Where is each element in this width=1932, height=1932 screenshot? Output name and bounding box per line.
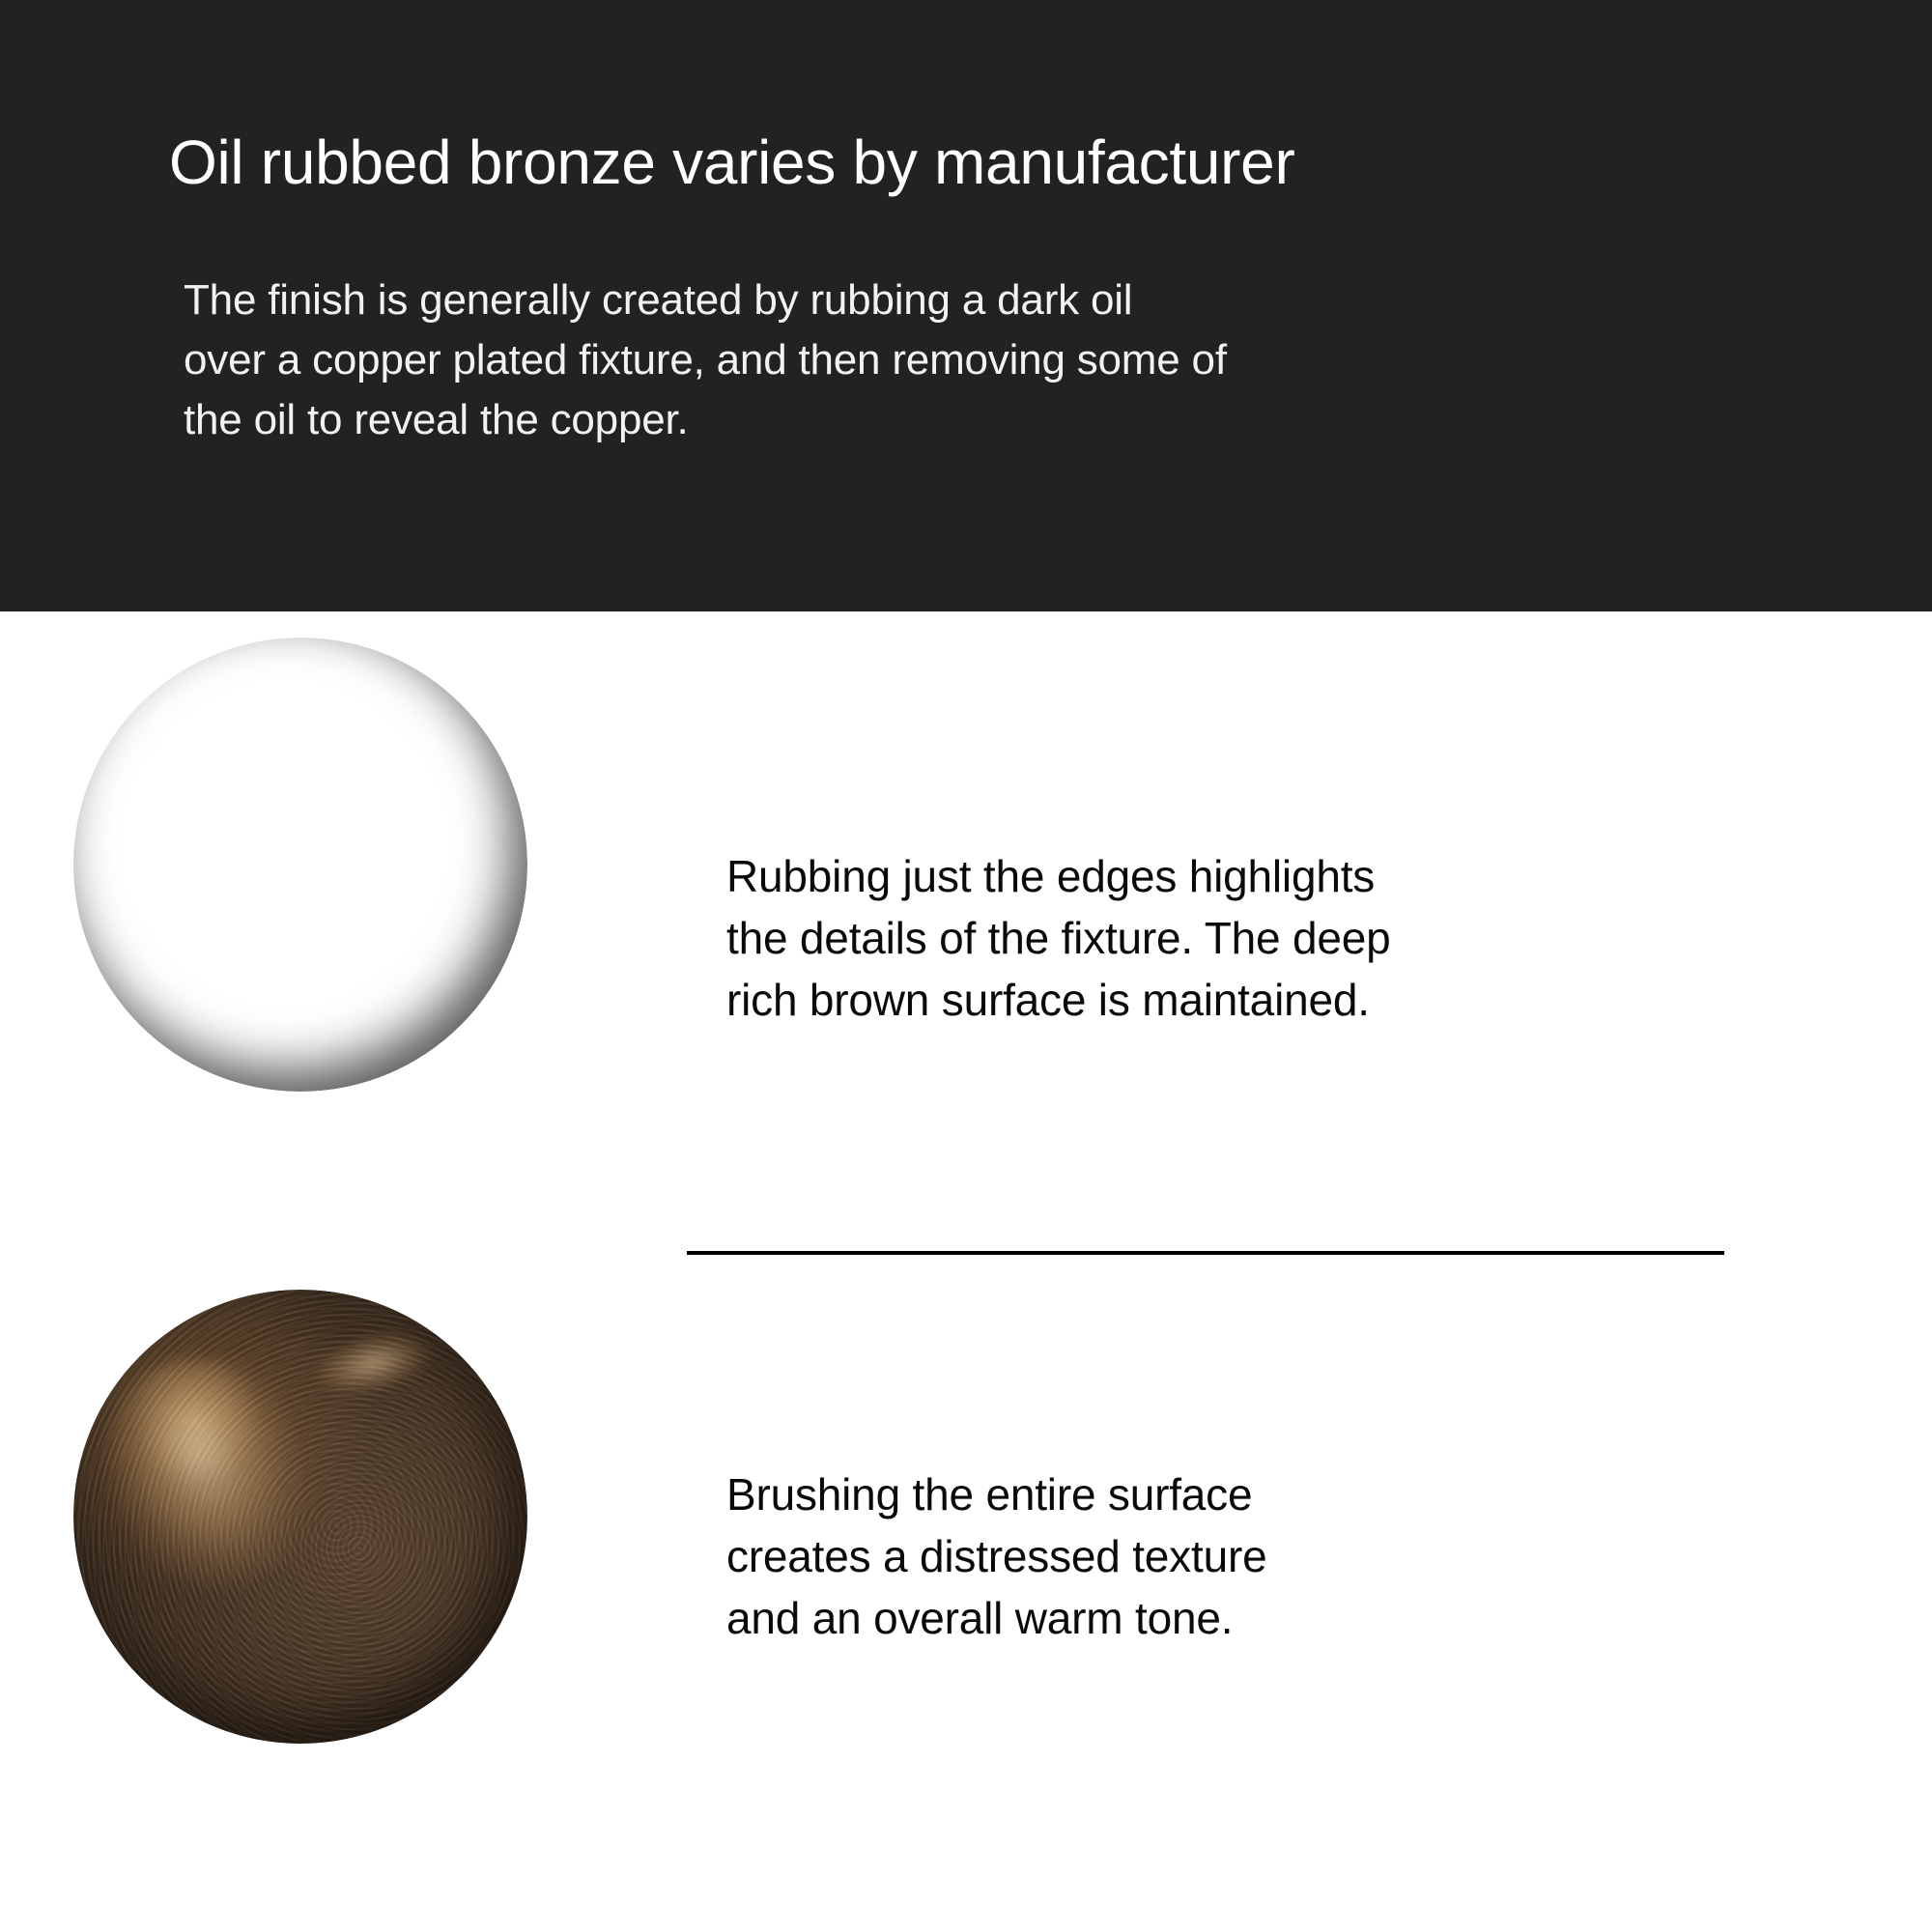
caption-line-3: rich brown surface is maintained.: [726, 969, 1391, 1031]
header-band: Oil rubbed bronze varies by manufacturer…: [0, 0, 1932, 611]
caption-line-2: creates a distressed texture: [726, 1525, 1266, 1587]
swatch-caption-rubbed-edges: Rubbing just the edges highlights the de…: [726, 845, 1391, 1031]
swatch-surface-polished: [73, 638, 527, 1092]
caption-line-2: the details of the fixture. The deep: [726, 907, 1391, 969]
brushed-warm-bronze-swatch: [73, 1290, 527, 1744]
swatch-caption-brushed-surface: Brushing the entire surface creates a di…: [726, 1463, 1266, 1649]
caption-line-1: Brushing the entire surface: [726, 1463, 1266, 1525]
header-description-line-1: The finish is generally created by rubbi…: [184, 270, 1227, 330]
content-area: Rubbing just the edges highlights the de…: [0, 611, 1932, 1932]
header-description-line-2: over a copper plated fixture, and then r…: [184, 330, 1227, 390]
sphere-shading-rim: [73, 638, 527, 1092]
swatch-surface-brushed: [73, 1290, 527, 1744]
page-title: Oil rubbed bronze varies by manufacturer: [169, 131, 1294, 193]
caption-line-3: and an overall warm tone.: [726, 1587, 1266, 1649]
caption-line-1: Rubbing just the edges highlights: [726, 845, 1391, 907]
polished-dark-bronze-swatch: [73, 638, 527, 1092]
header-description-line-3: the oil to reveal the copper.: [184, 390, 1227, 450]
header-description: The finish is generally created by rubbi…: [184, 270, 1227, 450]
swatch-row-rubbed-edges: Rubbing just the edges highlights the de…: [0, 611, 1932, 1230]
swatch-row-brushed-surface: Brushing the entire surface creates a di…: [0, 1259, 1932, 1896]
sphere-shading-rim: [73, 1290, 527, 1744]
section-divider: [687, 1251, 1724, 1255]
